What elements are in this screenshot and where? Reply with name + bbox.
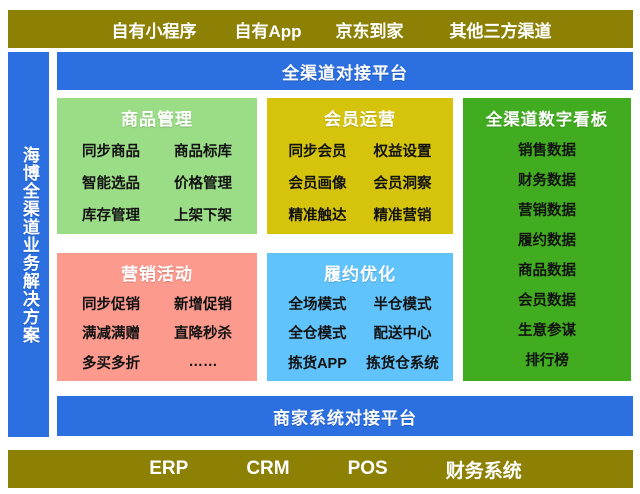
fulfillment-cell-half-warehouse-mode: 半仓模式 [360,293,445,314]
panel-omnichannel-dashboard: 全渠道数字看板 销售数据 财务数据 营销数据 履约数据 商品数据 会员数据 生意… [463,98,631,381]
dashboard-item-business-advisor: 生意参谋 [463,319,631,340]
dashboard-item-marketing-data: 营销数据 [463,199,631,220]
channel-item-third-party: 其他三方渠道 [450,17,552,42]
bottom-systems-bar: ERP CRM POS 财务系统 [8,450,633,488]
merchant-platform-band: 商家系统对接平台 [57,396,633,436]
marketing-cell-ellipsis: …… [157,354,249,370]
fulfillment-cell-picking-app: 拣货APP [275,352,360,373]
card-title-fulfillment: 履约优化 [324,260,396,285]
omnichannel-platform-band: 全渠道对接平台 [57,52,633,90]
member-cell-benefit-settings: 权益设置 [360,140,445,161]
system-item-erp: ERP [149,458,188,480]
system-item-crm: CRM [246,458,289,480]
member-cell-precise-reach: 精准触达 [275,204,360,225]
channel-list: 自有小程序 自有App 京东到家 其他三方渠道 [8,17,633,42]
omnichannel-platform-label: 全渠道对接平台 [282,59,408,84]
card-row: 同步商品 商品标库 [65,140,249,161]
goods-cell-inventory-management: 库存管理 [65,204,157,225]
card-title-marketing: 营销活动 [121,260,193,285]
card-title-member: 会员运营 [324,105,396,130]
goods-cell-listing-delisting: 上架下架 [157,204,249,225]
card-row: 满减满赠 直降秒杀 [65,322,249,343]
card-goods-management: 商品管理 同步商品 商品标库 智能选品 价格管理 库存管理 上架下架 [57,98,257,234]
panel-title-dashboard: 全渠道数字看板 [486,106,609,130]
dashboard-item-list: 销售数据 财务数据 营销数据 履约数据 商品数据 会员数据 生意参谋 排行榜 [463,134,631,381]
dashboard-item-fulfillment-data: 履约数据 [463,229,631,250]
card-marketing-grid: 同步促销 新增促销 满减满赠 直降秒杀 多买多折 …… [57,289,257,381]
system-list: ERP CRM POS 财务系统 [8,456,633,483]
solution-architecture-diagram: 自有小程序 自有App 京东到家 其他三方渠道 海博全渠道业务解决方案 全渠道对… [0,0,640,494]
marketing-cell-discount-gift: 满减满赠 [65,322,157,343]
goods-cell-product-library: 商品标库 [157,140,249,161]
card-member-grid: 同步会员 权益设置 会员画像 会员洞察 精准触达 精准营销 [267,134,453,234]
top-channel-bar: 自有小程序 自有App 京东到家 其他三方渠道 [8,10,633,48]
card-row: 多买多折 …… [65,352,249,373]
card-fulfillment-optimization: 履约优化 全场模式 半仓模式 全仓模式 配送中心 拣货APP 拣货仓系统 [267,253,453,381]
card-row: 全场模式 半仓模式 [275,293,445,314]
card-row: 同步会员 权益设置 [275,140,445,161]
marketing-cell-new-promotion: 新增促销 [157,293,249,314]
fulfillment-cell-picking-warehouse-system: 拣货仓系统 [360,352,445,373]
card-row: 拣货APP 拣货仓系统 [275,352,445,373]
card-row: 同步促销 新增促销 [65,293,249,314]
card-goods-grid: 同步商品 商品标库 智能选品 价格管理 库存管理 上架下架 [57,134,257,234]
solution-name-label: 海博全渠道业务解决方案 [18,146,39,344]
card-marketing-activities: 营销活动 同步促销 新增促销 满减满赠 直降秒杀 多买多折 …… [57,253,257,381]
fulfillment-cell-full-store-mode: 全场模式 [275,293,360,314]
merchant-platform-label: 商家系统对接平台 [273,404,417,429]
fulfillment-cell-full-warehouse-mode: 全仓模式 [275,322,360,343]
channel-item-own-app: 自有App [234,17,301,42]
card-row: 全仓模式 配送中心 [275,322,445,343]
marketing-cell-flash-sale: 直降秒杀 [157,322,249,343]
dashboard-item-sales-data: 销售数据 [463,139,631,160]
fulfillment-cell-distribution-center: 配送中心 [360,322,445,343]
member-cell-member-profile: 会员画像 [275,172,360,193]
dashboard-item-ranking-list: 排行榜 [463,349,631,370]
dashboard-item-member-data: 会员数据 [463,289,631,310]
goods-cell-sync-product: 同步商品 [65,140,157,161]
card-fulfillment-grid: 全场模式 半仓模式 全仓模式 配送中心 拣货APP 拣货仓系统 [267,289,453,381]
channel-item-jd-daojia: 京东到家 [336,17,404,42]
card-row: 会员画像 会员洞察 [275,172,445,193]
dashboard-item-finance-data: 财务数据 [463,169,631,190]
member-cell-precise-marketing: 精准营销 [360,204,445,225]
goods-cell-smart-selection: 智能选品 [65,172,157,193]
system-item-pos: POS [348,458,388,480]
channel-item-mini-program: 自有小程序 [111,17,196,42]
card-member-operations: 会员运营 同步会员 权益设置 会员画像 会员洞察 精准触达 精准营销 [267,98,453,234]
member-cell-sync-member: 同步会员 [275,140,360,161]
system-item-finance-system: 财务系统 [446,456,522,483]
card-row: 精准触达 精准营销 [275,204,445,225]
member-cell-member-insight: 会员洞察 [360,172,445,193]
marketing-cell-bulk-discount: 多买多折 [65,352,157,373]
card-row: 智能选品 价格管理 [65,172,249,193]
goods-cell-price-management: 价格管理 [157,172,249,193]
marketing-cell-sync-promotion: 同步促销 [65,293,157,314]
card-title-goods: 商品管理 [121,105,193,130]
dashboard-item-product-data: 商品数据 [463,259,631,280]
left-vertical-title-bar: 海博全渠道业务解决方案 [8,52,49,437]
card-row: 库存管理 上架下架 [65,204,249,225]
